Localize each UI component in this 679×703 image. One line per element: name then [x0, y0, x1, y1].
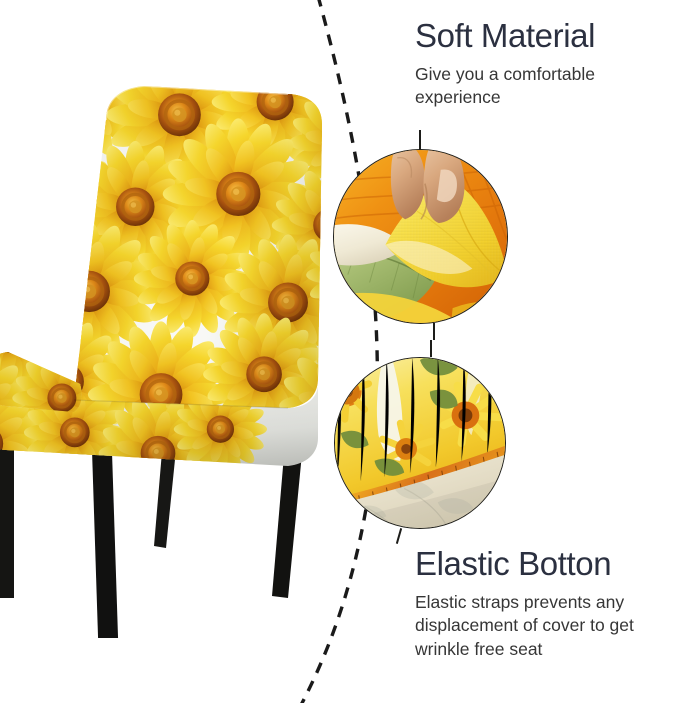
- inset-elastic-botton-closeup: [334, 357, 506, 529]
- inset-soft-leader-tick-top: [419, 130, 421, 150]
- inset-soft-leader-tick-bottom: [433, 323, 435, 340]
- inset-elastic-leader-tick-top: [430, 340, 432, 357]
- infographic-canvas: Soft Material Give you a comfortable exp…: [0, 0, 679, 703]
- product-image-chair: [0, 78, 340, 638]
- feature-description-elastic-botton: Elastic straps prevents any displacement…: [415, 591, 663, 661]
- inset-soft-material-closeup: [333, 149, 508, 324]
- feature-description-soft-material: Give you a comfortable experience: [415, 63, 663, 110]
- chair-illustration: [0, 78, 340, 638]
- fabric-stretch-closeup-image: [334, 150, 507, 323]
- feature-title-soft-material: Soft Material: [415, 18, 663, 54]
- elastic-hem-closeup-image: [335, 358, 505, 528]
- feature-title-elastic-botton: Elastic Botton: [415, 546, 663, 582]
- inset-elastic-leader-tick-bottom: [396, 528, 402, 544]
- feature-block-elastic-botton: Elastic Botton Elastic straps prevents a…: [415, 546, 663, 661]
- feature-block-soft-material: Soft Material Give you a comfortable exp…: [415, 18, 663, 110]
